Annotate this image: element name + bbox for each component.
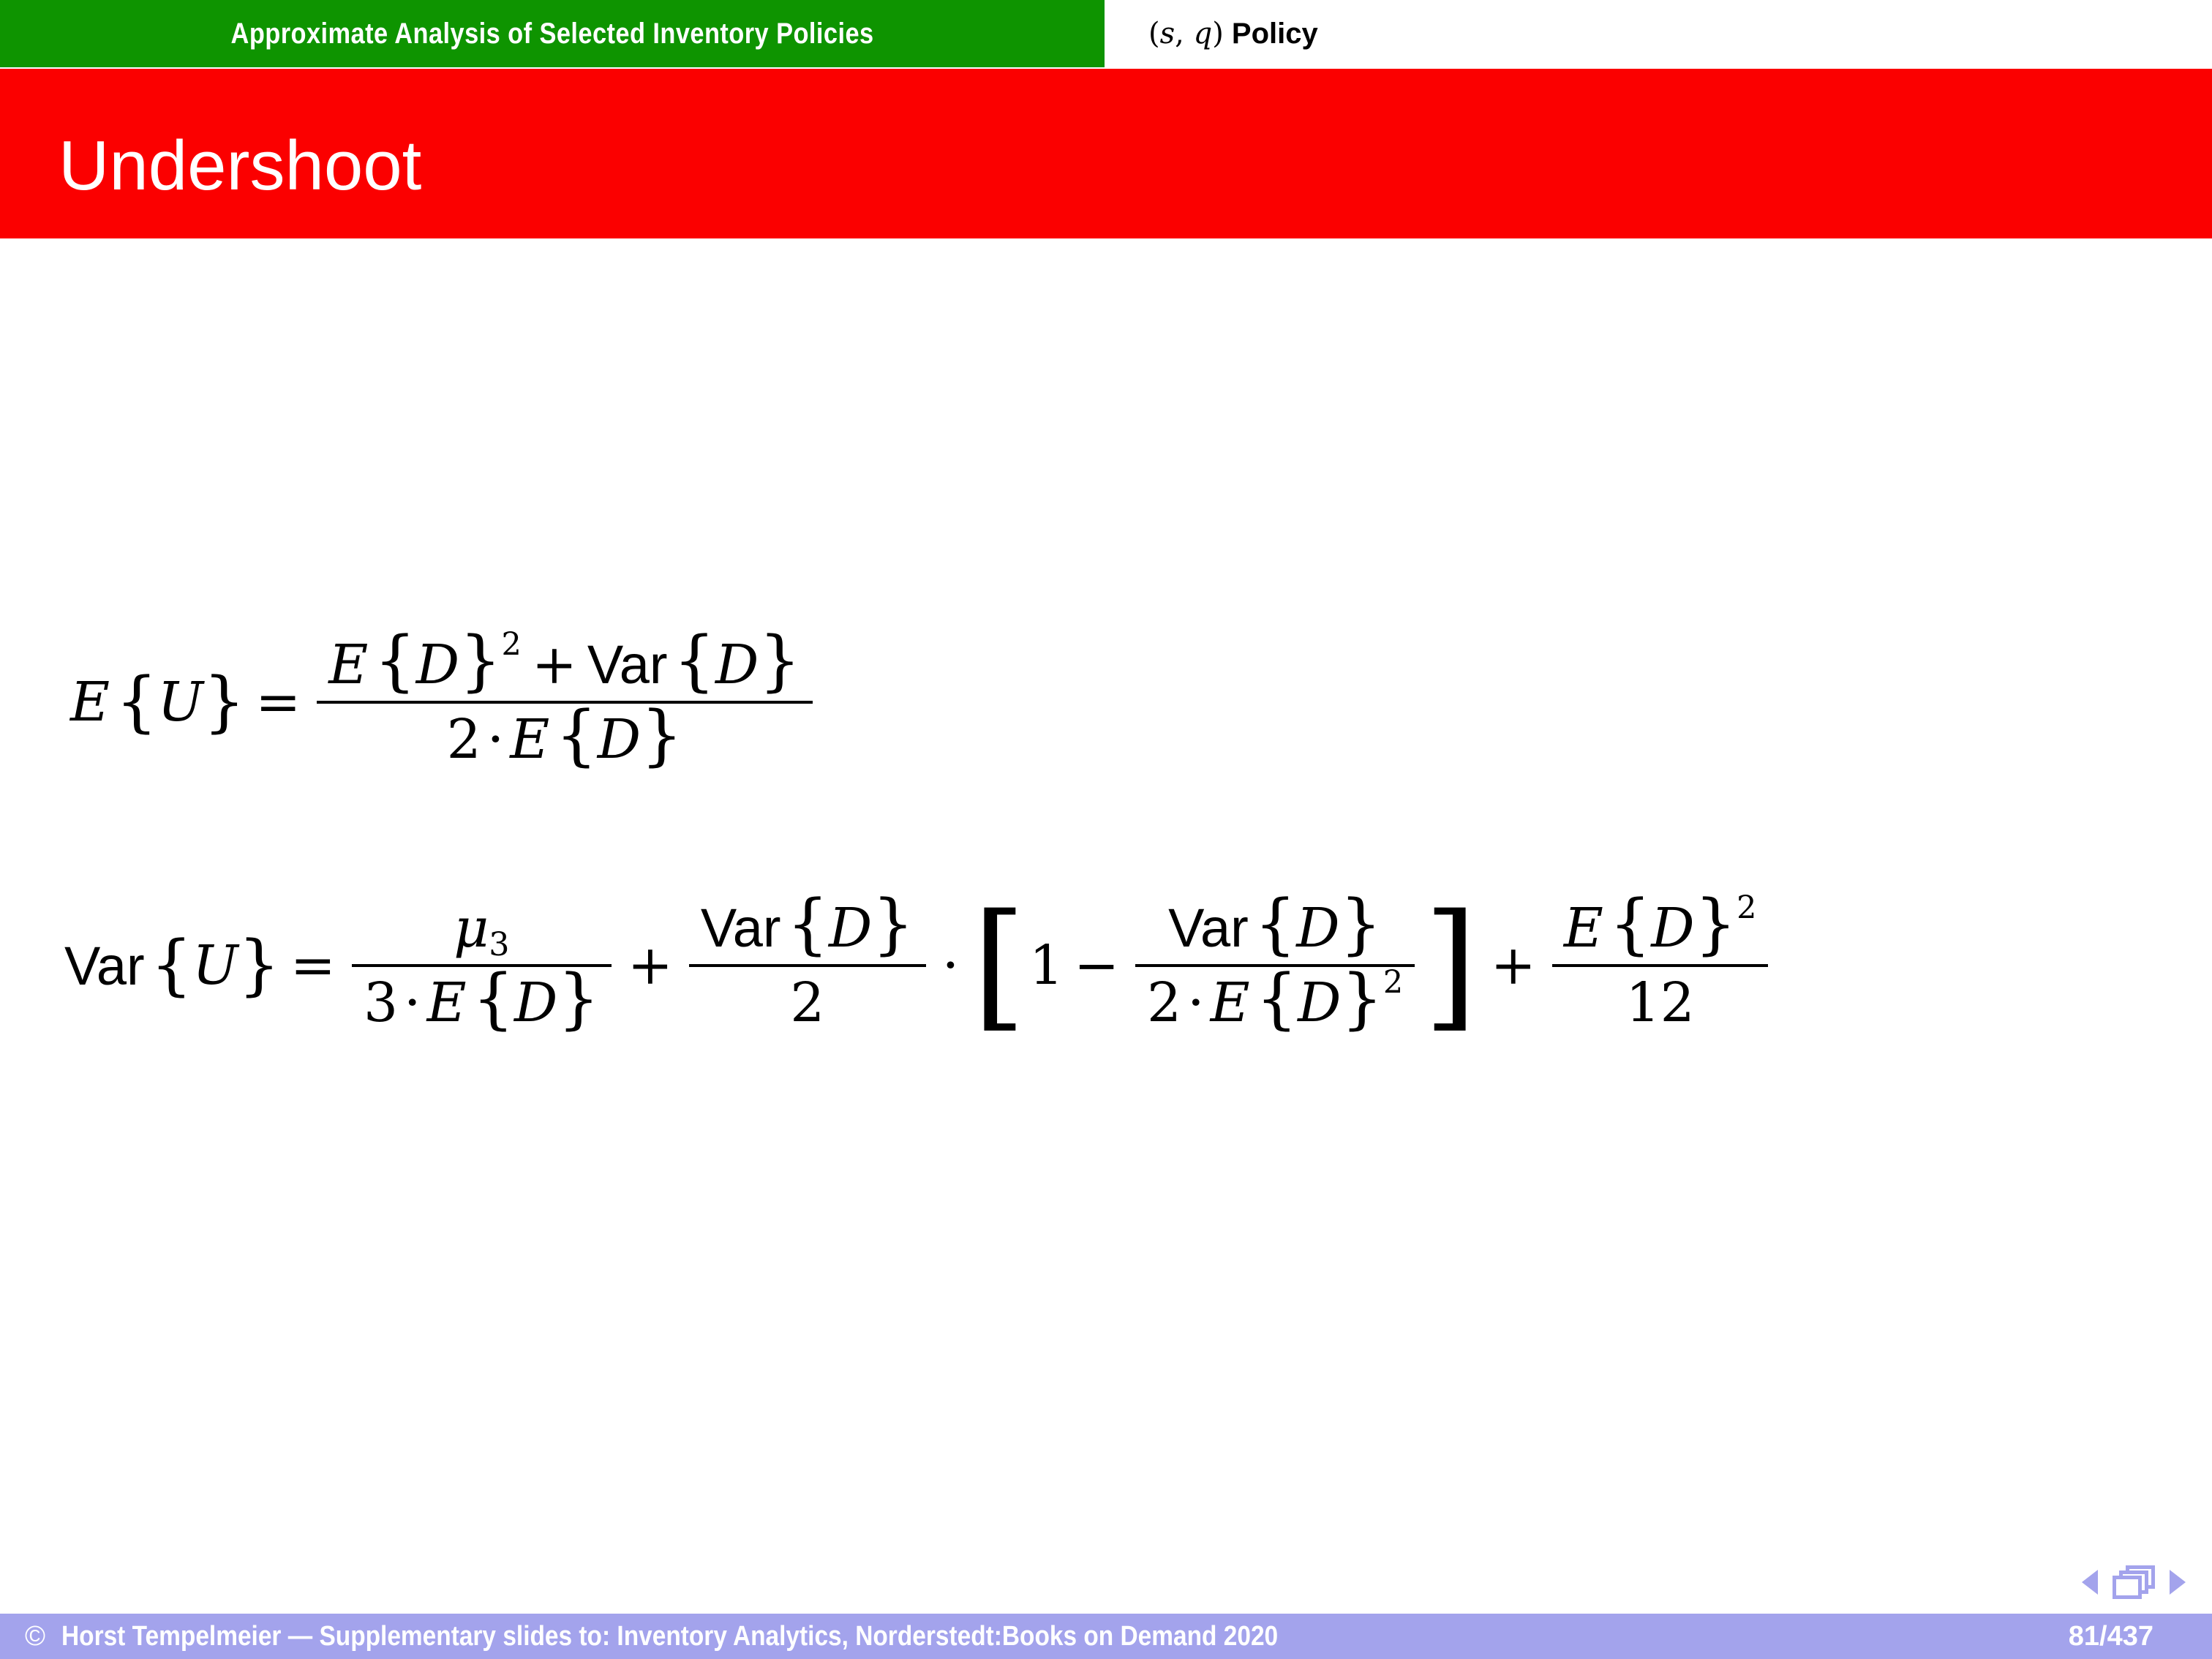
eq2-term1-den-arg: D [514,971,557,1034]
eq1-den-brace-open: { [555,697,597,774]
eq2-term1-numerator: μ3 [442,897,521,964]
eq1-denominator: 2·E{D} [435,704,695,771]
eq1-num-function: E [328,633,368,696]
next-slide-icon[interactable] [2170,1570,2186,1595]
eq2-term1-den-coefficient: 3 [364,971,398,1034]
eq2-bracket-group: [ 1 − Var{D} 2·E{D}2 ] [969,897,1481,1034]
eq1-fraction: E{D}2+Var{D} 2·E{D} [317,633,812,771]
eq1-num-exponent: 2 [502,626,522,663]
eq2-operator-2: · [942,934,960,997]
eq2-term3-den-coefficient: 2 [1147,971,1181,1034]
eq1-den-coefficient: 2 [447,708,481,771]
eq2-operator-3: − [1074,934,1119,997]
eq2-term1-mu-subscript: 3 [489,926,509,963]
eq2-term4-num-arg: D [1651,897,1694,960]
navigation-header-bar: Approximate Analysis of Selected Invento… [0,0,2212,67]
eq2-term2-num-function: Var [701,898,781,958]
eq2-lhs-arg: U [192,934,238,997]
eq1-numerator: E{D}2+Var{D} [317,633,812,701]
eq2-term4-numerator: E{D}2 [1552,897,1769,964]
eq2-term4-denominator: 12 [1614,967,1707,1034]
eq1-num-function2: Var [587,634,668,695]
eq2-term4-num-brace-open: { [1609,886,1651,963]
footer-attribution-text: Horst Tempelmeier — Supplementary slides… [61,1621,1278,1652]
eq2-lhs-brace-open: { [151,942,192,988]
eq2-term3-den-function: E [1211,971,1250,1034]
eq1-lhs-brace-open: { [116,679,157,725]
eq2-term2-num-arg: D [829,897,872,960]
eq2-term1-den-brace-open: { [473,960,514,1037]
eq2-term3-fraction: Var{D} 2·E{D}2 [1135,897,1415,1034]
eq2-term4-num-brace-close: } [1695,886,1737,963]
eq2-term4-num-function: E [1564,897,1603,960]
eq2-operator-4: + [1491,934,1536,997]
subsection-policy-word: Policy [1232,18,1318,50]
eq1-num2-brace-close: } [759,622,800,699]
header-section-block[interactable]: Approximate Analysis of Selected Invento… [0,0,1105,67]
eq2-term3-den-brace-open: { [1256,960,1298,1037]
eq2-bracket-open: [ [972,925,1026,1005]
eq2-bracket-close: ] [1423,925,1478,1005]
eq2-term3-num-brace-close: } [1340,886,1382,963]
eq2-term1-den-function: E [427,971,467,1034]
eq2-term1-denominator: 3·E{D} [352,967,612,1034]
slide-footer-bar: © Horst Tempelmeier — Supplementary slid… [0,1614,2212,1659]
subsection-paren-open: ( [1148,17,1160,50]
equation-expected-undershoot: E{U} = E{D}2+Var{D} 2·E{D} [70,633,819,771]
eq2-term3-den-dot: · [1187,971,1205,1034]
eq1-lhs-function: E [70,671,110,734]
eq1-num-brace-open: { [374,622,415,699]
slide-title-bar: Undershoot [0,69,2212,238]
previous-slide-icon[interactable] [2082,1570,2098,1595]
eq1-num-arg: D [416,633,459,696]
eq2-term2-num-brace-open: { [787,886,829,963]
eq2-relation: = [290,934,336,997]
header-subsection-block[interactable]: (s, q) Policy [1105,0,2212,67]
eq2-term3-num-function: Var [1168,898,1249,958]
eq2-term3-den-brace-close: } [1341,960,1382,1037]
eq2-term1-den-dot: · [404,971,421,1034]
page-title: Undershoot [59,126,421,206]
subsection-paren-close: ) [1212,17,1224,50]
eq1-num2-arg: D [715,633,759,696]
subsection-var-q: q [1194,17,1213,50]
eq2-term3-num-brace-open: { [1254,886,1296,963]
eq2-term1-fraction: μ3 3·E{D} [352,897,612,1034]
eq2-term3-num-arg: D [1296,897,1339,960]
eq2-term2-fraction: Var{D} 2 [689,897,926,1034]
eq2-term4-fraction: E{D}2 12 [1552,897,1769,1034]
eq2-term3-numerator: Var{D} [1156,897,1393,964]
slide-overview-icon[interactable] [2113,1565,2155,1599]
eq1-num2-brace-open: { [674,622,715,699]
slide-content-area: E{U} = E{D}2+Var{D} 2·E{D} Var{U} = μ3 3… [0,238,2212,1555]
eq2-one: 1 [1029,934,1064,997]
eq2-term3-denominator: 2·E{D}2 [1135,967,1415,1034]
eq2-lhs-function: Var [64,935,145,997]
eq2-term3-den-arg: D [1298,971,1341,1034]
eq2-term3-den-exponent: 2 [1383,964,1403,1001]
page-number: 81/437 [2069,1621,2153,1652]
eq1-den-arg: D [598,708,641,771]
eq1-relation: = [255,671,301,734]
subsection-comma: , [1175,17,1193,50]
eq2-term2-denominator: 2 [778,967,836,1034]
equation-variance-undershoot: Var{U} = μ3 3·E{D} + Var{D} 2 · [ 1 − Va… [64,897,1774,1034]
eq1-num-operator: + [532,633,577,696]
eq1-num-brace-close: } [459,622,501,699]
eq1-den-brace-close: } [641,697,682,774]
copyright-icon: © [25,1622,45,1650]
subsection-var-s: s [1160,17,1175,50]
eq2-operator-1: + [628,934,673,997]
eq2-term2-num-brace-close: } [872,886,914,963]
eq1-den-function: E [510,708,549,771]
slide-stack-front [2113,1576,2142,1599]
eq1-lhs-arg: U [157,671,203,734]
eq2-lhs-brace-close: } [238,942,279,988]
eq1-den-dot: · [487,708,505,771]
eq2-term1-den-brace-close: } [557,960,599,1037]
header-section-label: Approximate Analysis of Selected Invento… [230,18,873,50]
header-subsection-label: (s, q) Policy [1148,17,1318,50]
eq2-term1-mu: μ [454,897,489,960]
eq2-term4-num-exponent: 2 [1737,889,1756,926]
slide-navigation-widget[interactable] [2082,1565,2186,1599]
eq2-term2-numerator: Var{D} [689,897,926,964]
eq1-lhs-brace-close: } [203,679,245,725]
